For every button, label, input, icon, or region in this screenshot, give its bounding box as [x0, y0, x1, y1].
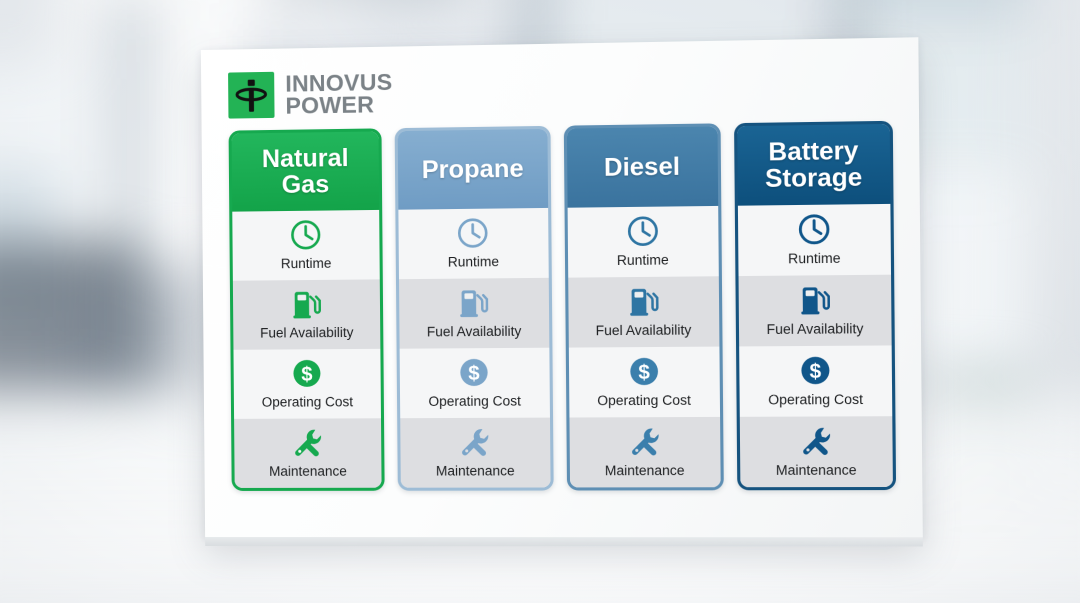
attribute-label: Runtime — [617, 252, 669, 268]
attribute-row-runtime[interactable]: Runtime — [567, 206, 718, 278]
attribute-label: Operating Cost — [428, 393, 521, 409]
dollar-circle-icon: $ — [457, 355, 492, 390]
fuel-pump-icon — [797, 282, 833, 317]
attribute-row-fuel-availability[interactable]: Fuel Availability — [568, 276, 719, 347]
comparison-column-battery-storage[interactable]: Battery Storage Runtime — [734, 121, 896, 490]
svg-text:$: $ — [638, 362, 650, 384]
dollar-circle-icon: $ — [290, 356, 325, 390]
column-title: Propane — [422, 155, 524, 183]
brand-wordmark: INNOVUS POWER — [285, 70, 393, 117]
attribute-row-fuel-availability[interactable]: Fuel Availability — [738, 275, 891, 347]
attribute-row-maintenance[interactable]: Maintenance — [234, 418, 382, 488]
attribute-label: Runtime — [788, 251, 841, 267]
clock-icon — [625, 214, 660, 249]
column-header-battery-storage: Battery Storage — [737, 124, 890, 206]
column-title: Diesel — [604, 153, 680, 181]
dollar-circle-icon: $ — [626, 354, 661, 389]
attribute-label: Operating Cost — [262, 394, 353, 409]
attribute-label: Runtime — [448, 254, 499, 270]
comparison-poster: INNOVUS POWER Natural Gas — [201, 37, 923, 537]
wrench-screwdriver-icon — [290, 426, 325, 460]
svg-text:$: $ — [809, 361, 821, 384]
attribute-row-operating-cost[interactable]: $ Operating Cost — [400, 348, 550, 418]
attribute-rows: Runtime Fuel Availability — [567, 206, 720, 488]
attribute-row-runtime[interactable]: Runtime — [738, 204, 891, 276]
wrench-screwdriver-icon — [458, 425, 493, 459]
column-header-natural-gas: Natural Gas — [232, 131, 380, 211]
wrench-screwdriver-icon — [798, 424, 834, 459]
attribute-label: Maintenance — [776, 462, 857, 478]
wrench-screwdriver-icon — [627, 424, 662, 459]
svg-text:$: $ — [469, 363, 481, 385]
attribute-label: Fuel Availability — [596, 322, 692, 338]
clock-icon — [796, 212, 832, 247]
comparison-columns: Natural Gas Runtime — [224, 121, 902, 491]
clock-icon — [456, 216, 491, 251]
comparison-column-natural-gas[interactable]: Natural Gas Runtime — [229, 128, 385, 491]
attribute-row-maintenance[interactable]: Maintenance — [740, 416, 893, 487]
comparison-column-propane[interactable]: Propane Runtime — [395, 126, 553, 491]
attribute-row-operating-cost[interactable]: $ Operating Cost — [739, 345, 892, 416]
attribute-rows: Runtime Fuel Availability — [232, 210, 382, 488]
attribute-rows: Runtime Fuel Availability — [399, 208, 550, 488]
brand-logo: INNOVUS POWER — [223, 56, 898, 124]
attribute-label: Maintenance — [605, 463, 685, 478]
attribute-label: Maintenance — [269, 464, 347, 479]
column-title-line-2: Gas — [282, 170, 330, 199]
attribute-row-maintenance[interactable]: Maintenance — [569, 417, 720, 488]
fuel-pump-icon — [456, 285, 491, 320]
attribute-label: Operating Cost — [768, 392, 863, 408]
attribute-label: Fuel Availability — [260, 325, 354, 341]
attribute-row-fuel-availability[interactable]: Fuel Availability — [399, 278, 549, 349]
column-title-line-1: Natural — [262, 143, 349, 172]
attribute-row-operating-cost[interactable]: $ Operating Cost — [568, 347, 719, 418]
comparison-column-diesel[interactable]: Diesel Runtime — [563, 123, 723, 490]
attribute-row-runtime[interactable]: Runtime — [232, 210, 380, 281]
attribute-row-runtime[interactable]: Runtime — [399, 208, 549, 279]
attribute-label: Runtime — [281, 256, 332, 272]
attribute-row-maintenance[interactable]: Maintenance — [400, 418, 550, 488]
clock-icon — [289, 218, 324, 253]
fuel-pump-icon — [625, 284, 660, 319]
attribute-label: Fuel Availability — [427, 324, 522, 340]
fuel-pump-icon — [289, 287, 324, 321]
dollar-circle-icon: $ — [797, 353, 833, 388]
attribute-row-operating-cost[interactable]: $ Operating Cost — [233, 349, 381, 419]
attribute-rows: Runtime Fuel Availability — [738, 204, 893, 487]
attribute-label: Fuel Availability — [766, 321, 863, 337]
column-title-line-2: Storage — [765, 163, 862, 193]
attribute-row-fuel-availability[interactable]: Fuel Availability — [233, 279, 381, 349]
column-header-propane: Propane — [398, 129, 548, 210]
column-title-line-1: Battery — [768, 136, 858, 166]
column-header-diesel: Diesel — [566, 126, 718, 207]
svg-text:$: $ — [301, 364, 312, 386]
innovus-tower-icon — [228, 72, 274, 119]
brand-line-2: POWER — [285, 93, 392, 117]
attribute-label: Operating Cost — [597, 393, 691, 409]
poster-wrapper: INNOVUS POWER Natural Gas — [0, 0, 1080, 603]
attribute-label: Maintenance — [436, 463, 515, 478]
